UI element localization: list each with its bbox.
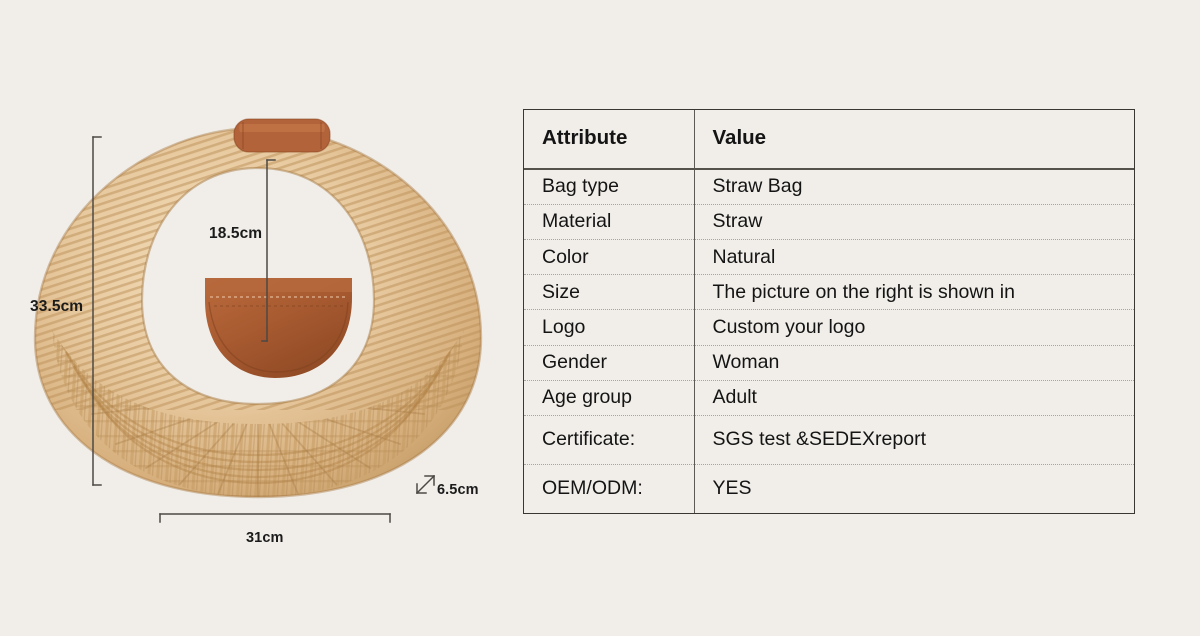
table-row: Bag typeStraw Bag xyxy=(524,169,1134,204)
cell-value: Natural xyxy=(694,239,1134,274)
dimension-label-opening: 18.5cm xyxy=(209,225,262,243)
cell-value: YES xyxy=(694,464,1134,513)
table-header: Attribute Value xyxy=(524,110,1134,169)
cell-attribute: Logo xyxy=(524,310,694,345)
cell-attribute: Material xyxy=(524,204,694,239)
cell-attribute: Certificate: xyxy=(524,416,694,465)
dimension-line-depth xyxy=(417,476,434,493)
dimension-label-height: 33.5cm xyxy=(30,298,83,316)
cell-attribute: Size xyxy=(524,275,694,310)
cell-value: The picture on the right is shown in xyxy=(694,275,1134,310)
cell-value: Woman xyxy=(694,345,1134,380)
dimension-line-width xyxy=(160,514,390,522)
cell-value: Custom your logo xyxy=(694,310,1134,345)
cell-attribute: Age group xyxy=(524,380,694,415)
dimension-line-height xyxy=(93,137,101,485)
specification-table: Attribute Value Bag typeStraw BagMateria… xyxy=(523,109,1135,514)
table-row: GenderWoman xyxy=(524,345,1134,380)
cell-attribute: Gender xyxy=(524,345,694,380)
cell-value: Adult xyxy=(694,380,1134,415)
cell-value: Straw xyxy=(694,204,1134,239)
table-row: LogoCustom your logo xyxy=(524,310,1134,345)
cell-value: SGS test &SEDEXreport xyxy=(694,416,1134,465)
cell-attribute: OEM/ODM: xyxy=(524,464,694,513)
cell-value: Straw Bag xyxy=(694,169,1134,204)
table-row: SizeThe picture on the right is shown in xyxy=(524,275,1134,310)
header-value: Value xyxy=(694,110,1134,169)
table-row: OEM/ODM:YES xyxy=(524,464,1134,513)
dimension-label-depth: 6.5cm xyxy=(437,482,479,498)
cell-attribute: Color xyxy=(524,239,694,274)
table-row: MaterialStraw xyxy=(524,204,1134,239)
table-row: Age groupAdult xyxy=(524,380,1134,415)
header-attribute: Attribute xyxy=(524,110,694,169)
cell-attribute: Bag type xyxy=(524,169,694,204)
table-row: ColorNatural xyxy=(524,239,1134,274)
product-spec-sheet: 33.5cm 18.5cm 31cm 6.5cm Attribute Value… xyxy=(0,0,1200,636)
table-body: Bag typeStraw BagMaterialStrawColorNatur… xyxy=(524,169,1134,513)
table-row: Certificate:SGS test &SEDEXreport xyxy=(524,416,1134,465)
product-image: 33.5cm 18.5cm 31cm 6.5cm xyxy=(0,0,520,636)
dimension-line-opening xyxy=(262,160,275,341)
dimension-label-width: 31cm xyxy=(246,530,284,546)
